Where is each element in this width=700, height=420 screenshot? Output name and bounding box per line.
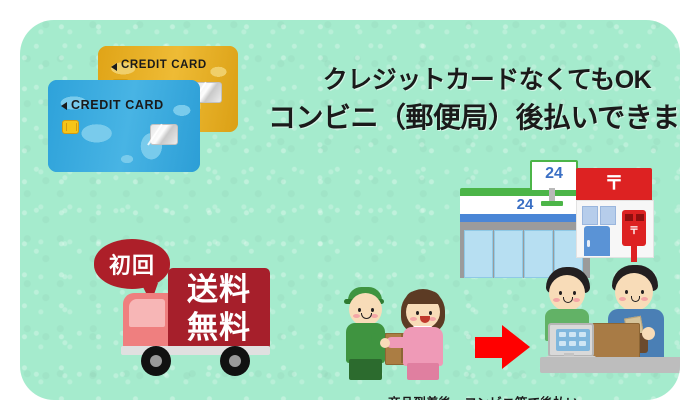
cash-register — [546, 323, 592, 359]
post-office-window-2 — [600, 206, 616, 225]
blue-card-hologram-icon — [150, 124, 178, 145]
post-office-illustration: 〒 〒 — [576, 168, 652, 272]
register-key — [559, 341, 566, 346]
truck-cargo-box: 送料 無料 — [168, 268, 270, 350]
delivery-person-head — [349, 293, 382, 326]
eye-left — [625, 290, 628, 294]
blush-left — [353, 314, 360, 318]
blush-right — [641, 297, 648, 301]
register-key — [579, 341, 586, 346]
truck-front-wheel — [141, 346, 171, 376]
truck-rear-wheel — [220, 346, 250, 376]
customer-fringe — [405, 291, 441, 304]
blush-right — [573, 298, 580, 302]
store-register-illustration — [540, 265, 680, 380]
register-key — [569, 341, 576, 346]
blue-card-label: CREDIT CARD — [71, 98, 164, 112]
blush-left — [619, 297, 626, 301]
mouth — [631, 296, 640, 302]
paying-customer-head — [615, 273, 653, 311]
blush-right — [371, 314, 378, 318]
gold-card-label: CREDIT CARD — [121, 59, 207, 71]
eye-right — [371, 308, 374, 312]
gold-card-arrow-icon — [111, 63, 117, 71]
eye-left — [358, 308, 361, 312]
post-box-slot-1 — [625, 214, 633, 221]
register-key — [559, 332, 566, 337]
post-office-door-knob — [587, 240, 590, 247]
mouth — [563, 297, 573, 303]
delivery-person-legs — [349, 359, 382, 380]
eye-right — [429, 311, 432, 315]
blush-left — [410, 317, 417, 321]
post-box-mark-icon: 〒 — [622, 225, 646, 239]
eye-left — [559, 291, 562, 295]
register-monitor — [548, 323, 594, 357]
free-shipping-line-1: 送料 — [187, 271, 251, 309]
right-arrow-icon — [475, 325, 530, 370]
customer-skirt — [407, 363, 439, 380]
arrow-head — [502, 325, 530, 369]
blue-credit-card: CREDIT CARD — [48, 80, 200, 172]
pole-sign-base — [541, 201, 563, 206]
post-box-leg — [631, 246, 637, 262]
mouth — [361, 313, 372, 319]
headline-line-2: コンビニ（郵便局）後払いできます — [268, 100, 680, 136]
customer-woman — [398, 287, 460, 380]
blush-left — [553, 298, 560, 302]
store-blue-stripe — [460, 214, 590, 222]
free-shipping-line-2: 無料 — [187, 309, 251, 347]
store-window-1 — [464, 230, 493, 278]
store-counter — [540, 357, 680, 373]
truck-window — [129, 299, 165, 327]
store-door-left — [494, 230, 523, 278]
caption-text: 商品到着後、コンビニ等で後払い♪ — [388, 392, 585, 400]
eye-right — [573, 291, 576, 295]
post-office-window-1 — [582, 206, 598, 225]
clerk-head — [549, 275, 585, 311]
register-key — [579, 332, 586, 337]
paying-customer-hand-right — [642, 327, 655, 340]
blue-card-arrow-icon — [61, 102, 67, 110]
headline-line-1: クレジットカードなくてもOK — [268, 64, 680, 96]
credit-cards-illustration: CREDIT CARD CREDIT CARD — [48, 46, 248, 168]
blue-card-chip-icon — [62, 120, 79, 134]
arrow-shaft — [475, 337, 505, 358]
store-pole-sign: 24 — [530, 160, 574, 206]
headline: クレジットカードなくてもOK コンビニ（郵便局）後払いできます — [268, 64, 680, 136]
eye-left — [416, 311, 419, 315]
ad-banner: CREDIT CARD CREDIT CARD クレジットカードなくてもOK コ… — [0, 0, 700, 420]
mouth — [420, 316, 430, 323]
eye-right — [641, 290, 644, 294]
delivery-handover-illustration — [340, 285, 460, 380]
customer-hand — [380, 338, 390, 348]
blush-right — [429, 317, 436, 321]
register-screen — [556, 329, 590, 351]
pole-sign-stem — [549, 188, 555, 202]
counter-parcel — [592, 323, 640, 361]
register-key — [569, 332, 576, 337]
delivery-truck-illustration: 送料 無料 — [115, 268, 270, 373]
mint-background-panel: CREDIT CARD CREDIT CARD クレジットカードなくてもOK コ… — [20, 20, 680, 400]
post-office-mark-icon: 〒 — [576, 168, 652, 200]
post-box-slot-2 — [636, 214, 644, 221]
